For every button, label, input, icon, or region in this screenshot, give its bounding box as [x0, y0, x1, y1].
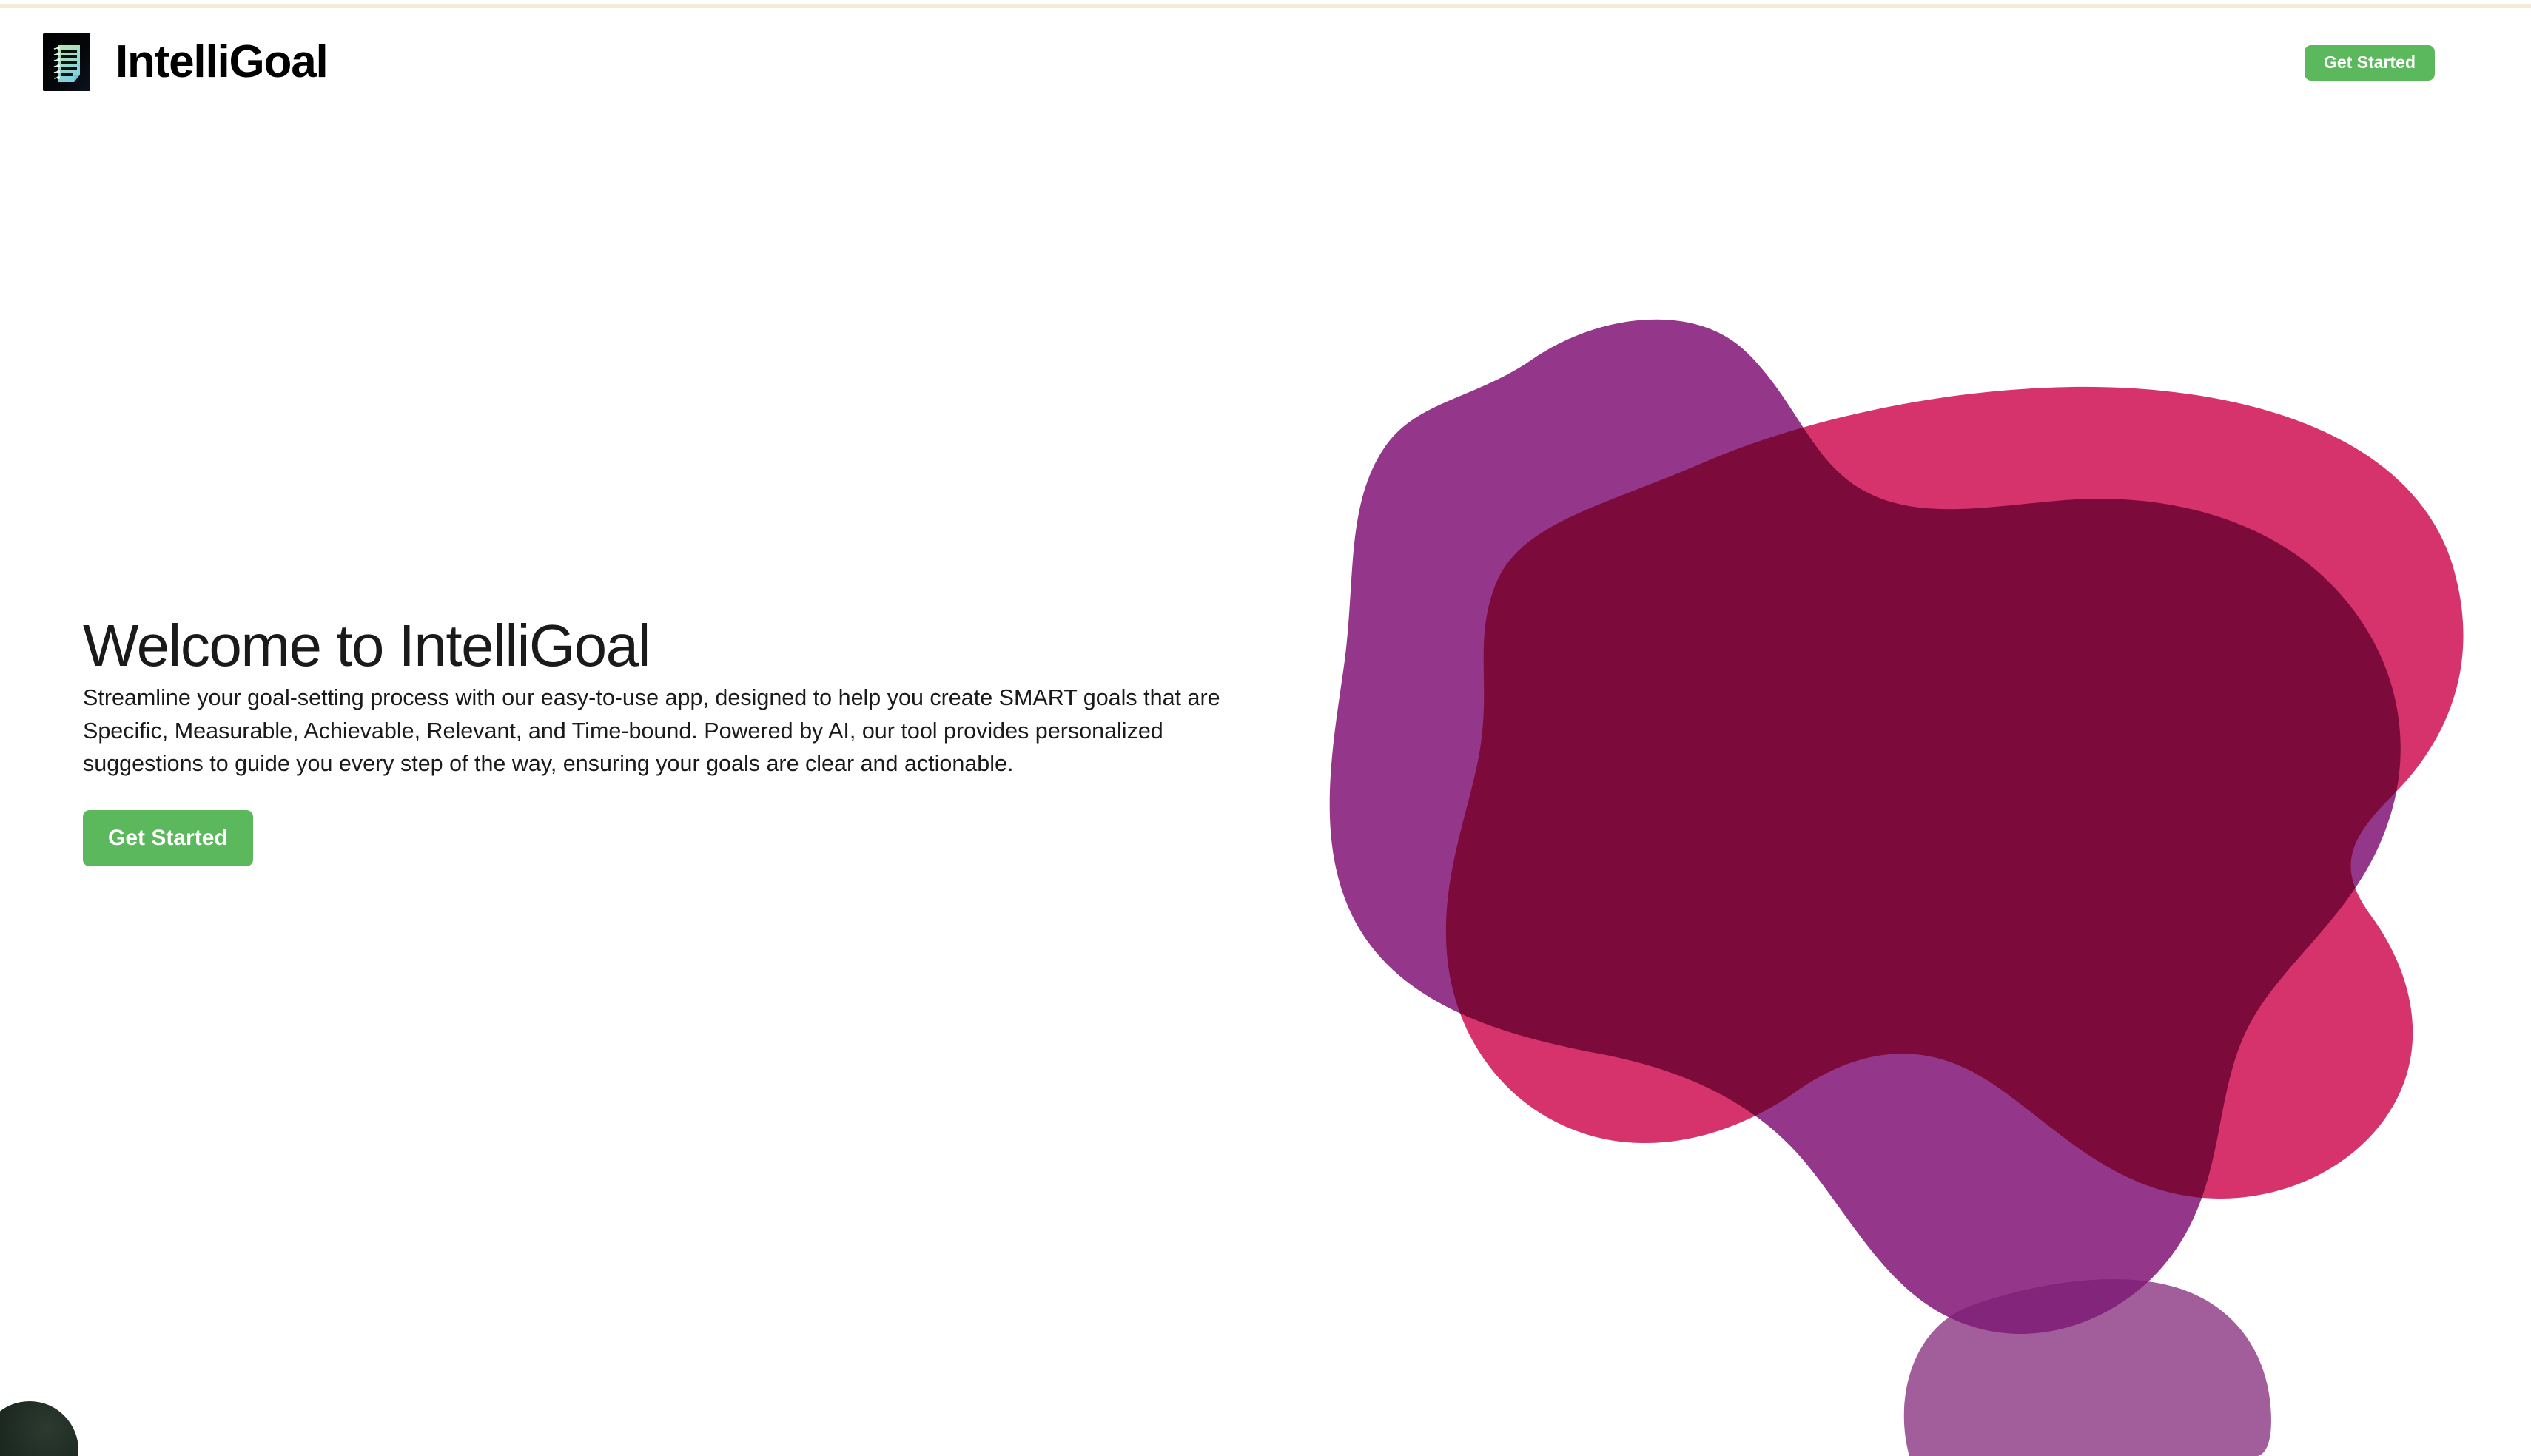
brand-name: IntelliGoal [115, 39, 328, 85]
brand[interactable]: IntelliGoal [43, 8, 328, 115]
hero-copy: Welcome to IntelliGoal Streamline your g… [83, 615, 1297, 866]
page-title: Welcome to IntelliGoal [83, 615, 1297, 677]
hero-subtitle: Streamline your goal-setting process wit… [83, 681, 1285, 781]
page-root: IntelliGoal Get Started Welcome to Intel… [0, 0, 2531, 1456]
site-header: IntelliGoal Get Started [0, 8, 2531, 115]
blob-crimson-shape [1446, 387, 2464, 1199]
header-get-started-button[interactable]: Get Started [2305, 45, 2435, 81]
blob-shadow-shape [1904, 1279, 2271, 1456]
decorative-blob-illustration [1184, 115, 2531, 1456]
top-accent-rule [0, 4, 2531, 8]
blob-purple-shape [1330, 320, 2401, 1334]
hero-section: Welcome to IntelliGoal Streamline your g… [0, 115, 2531, 1456]
hero-get-started-button[interactable]: Get Started [83, 810, 253, 866]
notepad-list-icon [43, 33, 90, 91]
